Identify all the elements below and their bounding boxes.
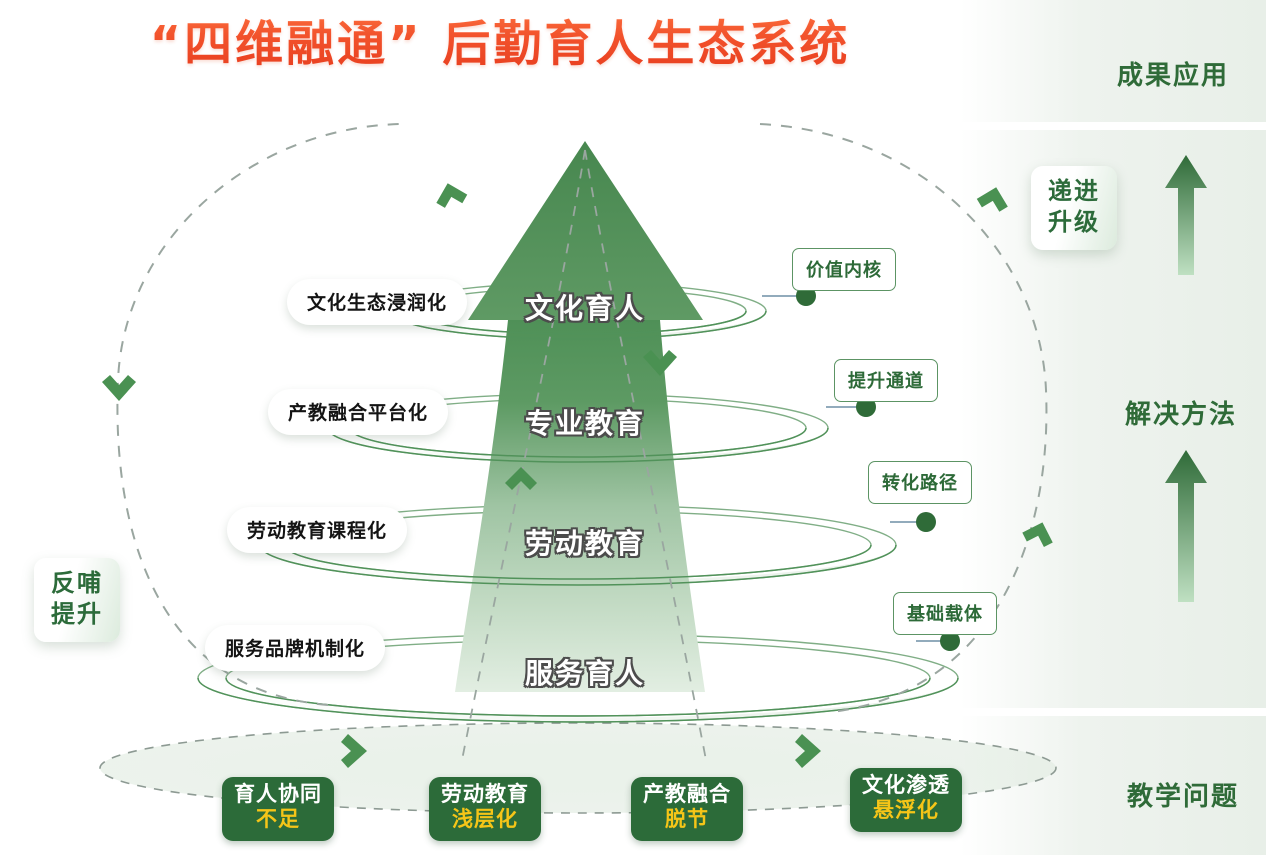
- problem-chip-title: 育人协同: [234, 783, 322, 808]
- right-tag-value-core[interactable]: 价值内核: [792, 248, 896, 291]
- problem-chip-issue: 脱节: [643, 808, 731, 833]
- pyramid-level-culture: 文化育人: [525, 287, 645, 327]
- feedback-card-line2: 提升: [51, 600, 103, 631]
- page-title: “四维融通” 后勤育人生态系统: [0, 4, 1000, 74]
- problem-chip-issue: 浅层化: [441, 808, 529, 833]
- problem-chip-labor-education[interactable]: 劳动教育 浅层化: [429, 777, 541, 841]
- left-pill-service[interactable]: 服务品牌机制化: [205, 625, 385, 671]
- problem-chip-culture-penetration[interactable]: 文化渗透 悬浮化: [850, 768, 962, 832]
- problem-chip-title: 劳动教育: [441, 783, 529, 808]
- progression-card-line2: 升级: [1048, 208, 1100, 239]
- dot-icon: [916, 512, 936, 532]
- band-label-solution: 解决方法: [1125, 394, 1237, 431]
- left-pill-culture[interactable]: 文化生态浸润化: [287, 279, 467, 325]
- infographic-canvas: “四维融通” 后勤育人生态系统 成果应用 解决方法 教学问题 反哺 提升 递进 …: [0, 0, 1266, 855]
- problem-chip-issue: 悬浮化: [862, 799, 950, 824]
- pyramid-level-professional: 专业教育: [525, 402, 645, 442]
- pyramid-level-labor: 劳动教育: [525, 522, 645, 562]
- problem-chip-industry-education[interactable]: 产教融合 脱节: [631, 777, 743, 841]
- left-pill-professional[interactable]: 产教融合平台化: [268, 389, 448, 435]
- problem-chip-issue: 不足: [234, 808, 322, 833]
- up-arrow-icon-results: [1163, 155, 1209, 275]
- pyramid-level-service: 服务育人: [525, 652, 645, 692]
- problem-chip-title: 文化渗透: [862, 774, 950, 799]
- feedback-card-line1: 反哺: [51, 569, 103, 600]
- right-tag-upgrade-channel[interactable]: 提升通道: [834, 359, 938, 402]
- problem-chip-title: 产教融合: [643, 783, 731, 808]
- right-tag-transform-path[interactable]: 转化路径: [868, 461, 972, 504]
- progression-card-line1: 递进: [1048, 177, 1100, 208]
- feedback-card[interactable]: 反哺 提升: [34, 558, 120, 642]
- right-tag-base-carrier[interactable]: 基础载体: [893, 592, 997, 635]
- left-pill-labor[interactable]: 劳动教育课程化: [227, 507, 407, 553]
- progression-card[interactable]: 递进 升级: [1031, 166, 1117, 250]
- problem-chip-collaboration[interactable]: 育人协同 不足: [222, 777, 334, 841]
- band-label-problem: 教学问题: [1127, 776, 1239, 813]
- band-label-results: 成果应用: [1117, 55, 1229, 92]
- up-arrow-icon-solution: [1163, 450, 1209, 602]
